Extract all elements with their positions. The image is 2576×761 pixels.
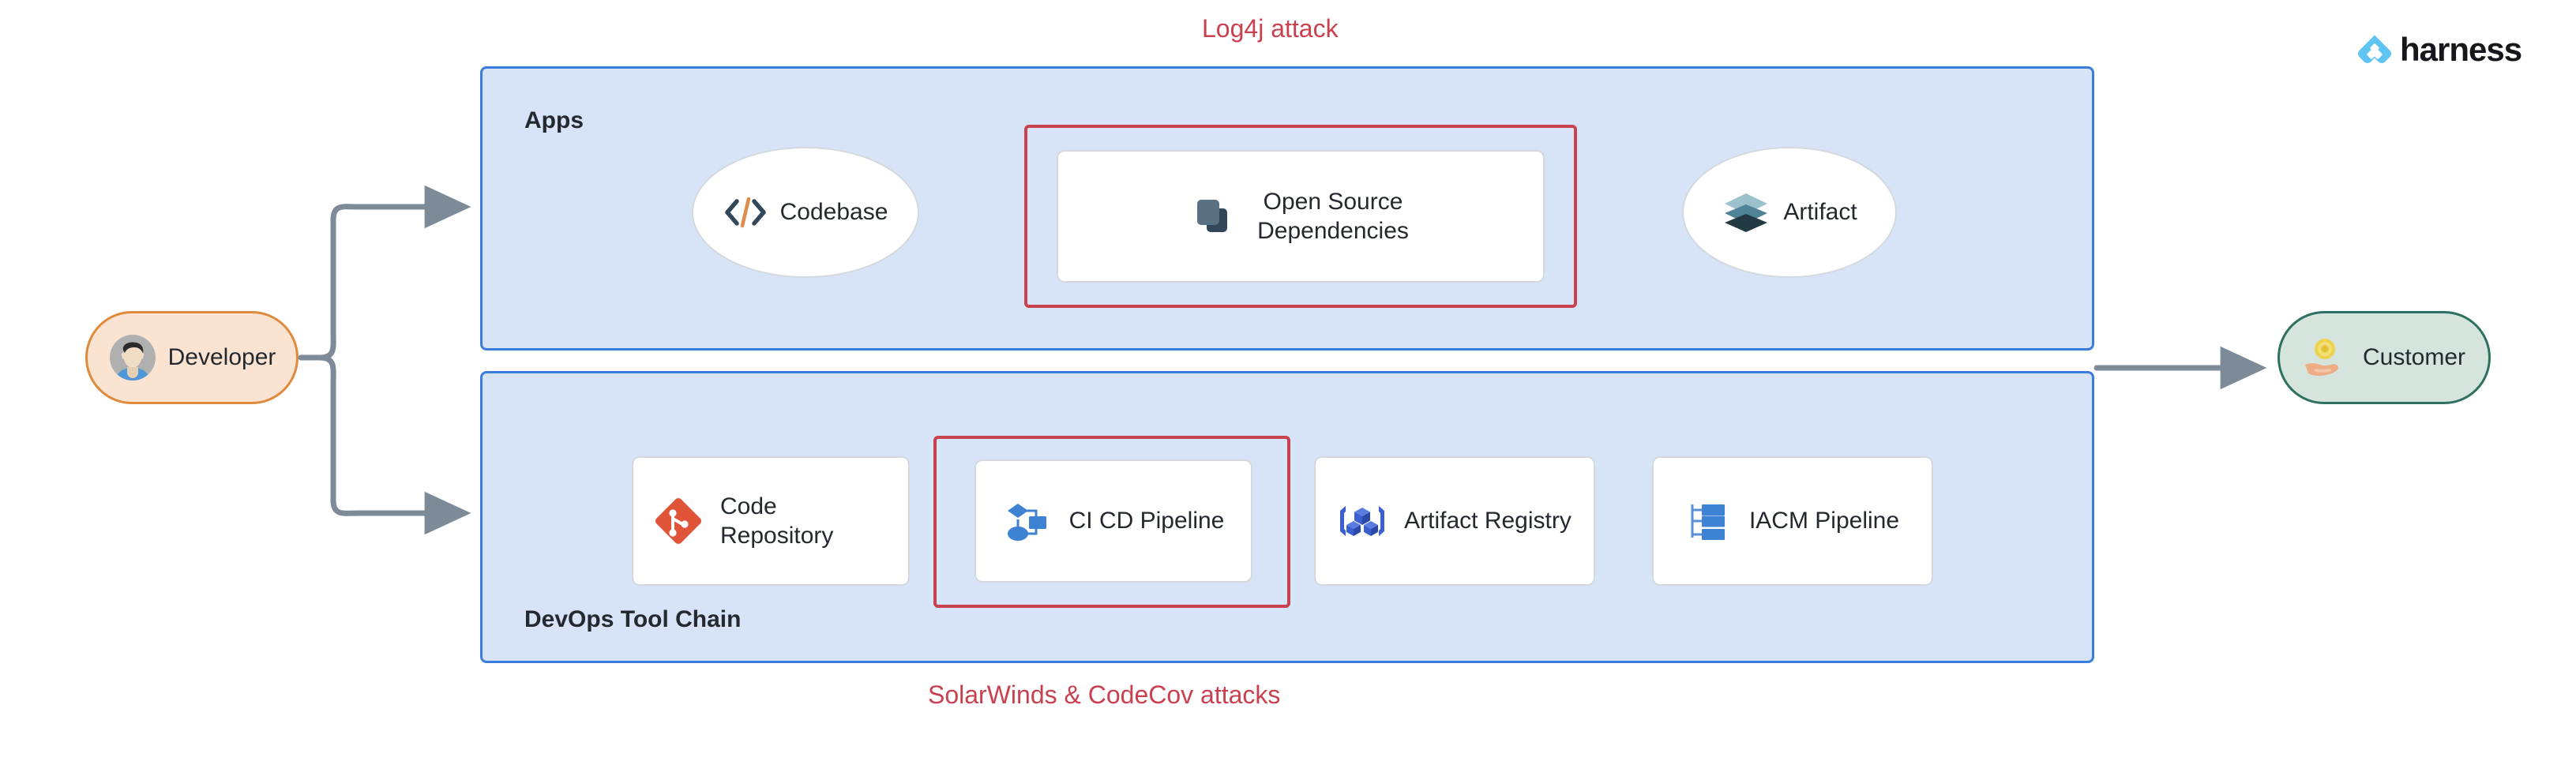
harness-logo-icon (2357, 34, 2392, 66)
node-artifact-registry[interactable]: Artifact Registry (1314, 456, 1595, 586)
flowchart-icon (1003, 497, 1052, 545)
diagram-canvas: harness Apps DevOps Tool Chain Codebase … (0, 0, 2576, 761)
annotation-solarwinds-codecov-attacks: SolarWinds & CodeCov attacks (928, 680, 1280, 710)
node-iacm-pipeline[interactable]: IACM Pipeline (1652, 456, 1933, 586)
actor-customer[interactable]: Customer (2277, 311, 2491, 404)
node-ci-cd-pipeline[interactable]: CI CD Pipeline (974, 459, 1252, 583)
brand-name: harness (2400, 33, 2522, 66)
stacked-packages-icon (1192, 193, 1240, 240)
node-label-ci-cd-pipeline: CI CD Pipeline (1069, 506, 1225, 536)
layers-stack-icon (1722, 190, 1771, 234)
node-label-code-repository: Code Repository (720, 492, 888, 551)
actor-developer[interactable]: Developer (85, 311, 299, 404)
git-branch-icon (654, 497, 703, 545)
node-codebase[interactable]: Codebase (692, 147, 919, 278)
node-label-iacm-pipeline: IACM Pipeline (1749, 506, 1899, 536)
node-label-artifact-registry: Artifact Registry (1404, 506, 1572, 536)
node-open-source-dependencies[interactable]: Open Source Dependencies (1057, 150, 1545, 283)
group-label-devops-tool-chain: DevOps Tool Chain (524, 606, 741, 633)
node-label-codebase: Codebase (780, 197, 888, 227)
hand-holding-coin-icon (2303, 333, 2352, 382)
node-label-artifact: Artifact (1783, 197, 1857, 227)
node-code-repository[interactable]: Code Repository (632, 456, 910, 586)
actor-label-developer: Developer (168, 344, 276, 371)
developer-avatar-icon (108, 333, 157, 382)
tree-bars-icon (1686, 498, 1732, 544)
actor-label-customer: Customer (2363, 344, 2465, 371)
annotation-log4j-attack: Log4j attack (1202, 14, 1339, 43)
brand-logo: harness (2357, 33, 2522, 66)
code-brackets-icon (723, 193, 768, 231)
node-label-open-source-dependencies: Open Source Dependencies (1257, 187, 1409, 246)
node-artifact[interactable]: Artifact (1682, 147, 1897, 278)
group-label-apps: Apps (524, 107, 584, 134)
registry-cubes-icon (1338, 497, 1387, 545)
